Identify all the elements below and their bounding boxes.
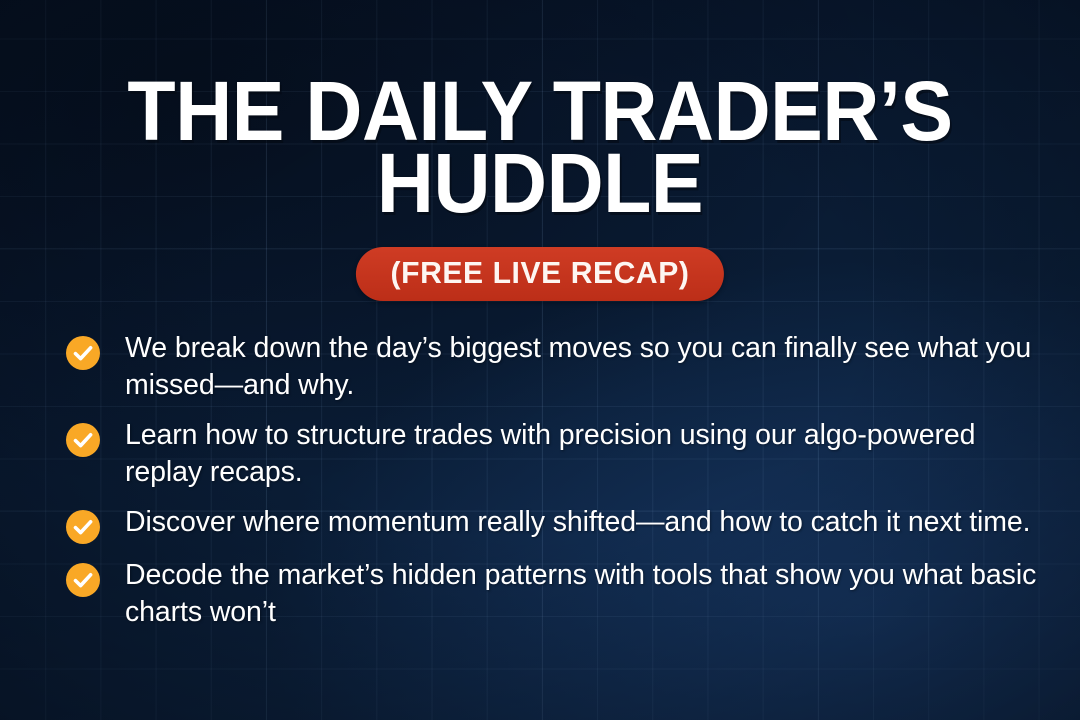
free-live-recap-badge-label: (FREE LIVE RECAP): [391, 256, 690, 290]
list-item-text: We break down the day’s biggest moves so…: [125, 330, 1040, 404]
list-item: Discover where momentum really shifted—a…: [66, 504, 1040, 544]
check-circle-icon: [66, 510, 100, 544]
promo-content: THE DAILY TRADER’S HUDDLE (FREE LIVE REC…: [0, 0, 1080, 720]
check-circle-icon: [66, 336, 100, 370]
list-item: We break down the day’s biggest moves so…: [66, 330, 1040, 404]
free-live-recap-badge: (FREE LIVE RECAP): [356, 247, 724, 301]
benefit-list: We break down the day’s biggest moves so…: [66, 330, 1040, 644]
list-item: Learn how to structure trades with preci…: [66, 417, 1040, 491]
list-item-text: Decode the market’s hidden patterns with…: [125, 557, 1040, 631]
page-title-line-2: HUDDLE: [32, 146, 1047, 220]
list-item-text: Learn how to structure trades with preci…: [125, 417, 1040, 491]
promo-card: THE DAILY TRADER’S HUDDLE (FREE LIVE REC…: [0, 0, 1080, 720]
check-circle-icon: [66, 563, 100, 597]
check-circle-icon: [66, 423, 100, 457]
list-item-text: Discover where momentum really shifted—a…: [125, 504, 1040, 541]
list-item: Decode the market’s hidden patterns with…: [66, 557, 1040, 631]
